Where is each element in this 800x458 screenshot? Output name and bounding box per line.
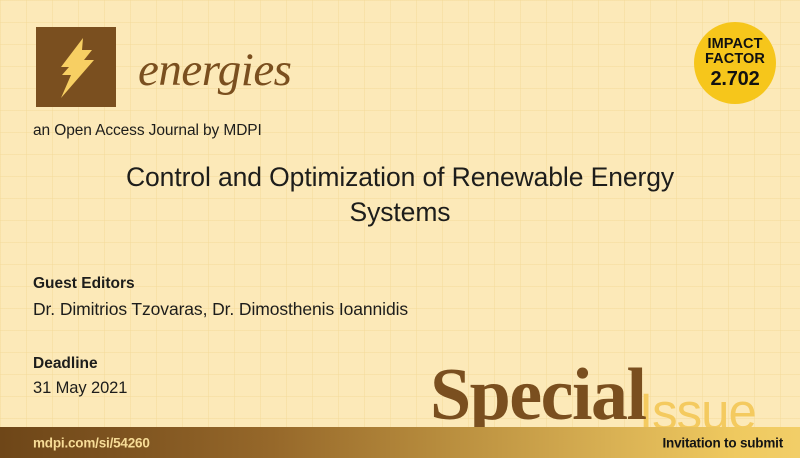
- impact-factor-badge: IMPACT FACTOR 2.702: [694, 22, 776, 104]
- deadline-block: Deadline 31 May 2021: [33, 355, 127, 398]
- lockup-word-special: Special: [430, 358, 646, 432]
- deadline-date: 31 May 2021: [33, 379, 127, 398]
- invitation-to-submit-label[interactable]: Invitation to submit: [663, 435, 784, 450]
- guest-editors-names: Dr. Dimitrios Tzovaras, Dr. Dimosthenis …: [33, 299, 408, 320]
- special-issue-lockup: Issue Special: [430, 358, 800, 428]
- impact-factor-line1: IMPACT: [707, 37, 762, 52]
- page-title: Control and Optimization of Renewable En…: [100, 160, 700, 230]
- special-issue-flyer: energies an Open Access Journal by MDPI …: [0, 0, 800, 458]
- guest-editors-block: Guest Editors Dr. Dimitrios Tzovaras, Dr…: [33, 275, 408, 320]
- guest-editors-label: Guest Editors: [33, 275, 408, 293]
- lightning-bolt-icon: [36, 27, 116, 107]
- journal-masthead: energies: [36, 26, 291, 108]
- journal-logo-mark: [36, 27, 116, 107]
- impact-factor-value: 2.702: [710, 69, 759, 89]
- special-issue-url[interactable]: mdpi.com/si/54260: [33, 435, 150, 450]
- journal-wordmark: energies: [138, 47, 291, 94]
- impact-factor-line2: FACTOR: [705, 52, 765, 67]
- journal-tagline: an Open Access Journal by MDPI: [33, 122, 262, 140]
- footer-bar: mdpi.com/si/54260 Invitation to submit: [0, 427, 800, 458]
- deadline-label: Deadline: [33, 355, 127, 373]
